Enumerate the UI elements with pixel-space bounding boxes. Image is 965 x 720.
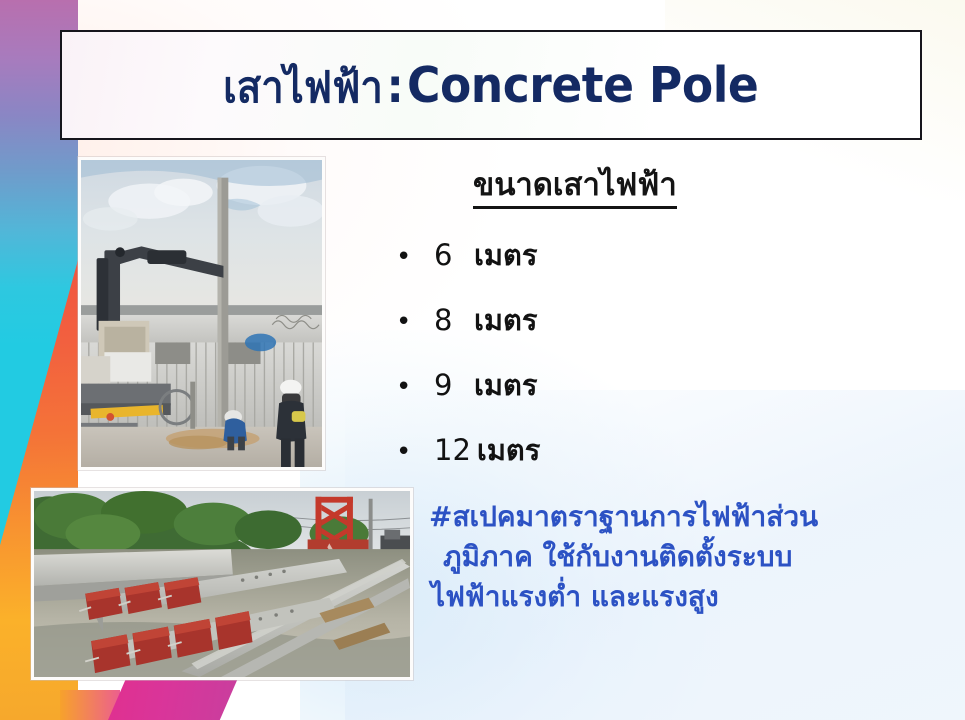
list-item-unit: เมตร bbox=[468, 232, 537, 278]
title-box: เสาไฟฟ้า:Concrete Pole bbox=[60, 30, 922, 140]
specification-note-line-2: ภูมิภาค ใช้กับงานติดตั้งระบบ bbox=[429, 537, 927, 577]
slide-title-thai: เสาไฟฟ้า bbox=[223, 63, 383, 113]
list-item-unit: เมตร bbox=[468, 297, 537, 343]
photo-pole-installation-graphic bbox=[81, 160, 322, 467]
specification-note-line-3: ไฟฟ้าแรงต่ำ และแรงสูง bbox=[429, 577, 927, 617]
bullet-icon: • bbox=[396, 244, 422, 270]
specification-note-line-1: #สเปคมาตราฐานการไฟฟ้าส่วน bbox=[429, 497, 927, 537]
decorative-magenta-accent bbox=[108, 678, 238, 720]
specification-note: #สเปคมาตราฐานการไฟฟ้าส่วน ภูมิภาค ใช้กับ… bbox=[429, 497, 927, 616]
pole-size-list: • 6 เมตร • 8 เมตร • 9 เมตร • 12 เมตร bbox=[396, 232, 916, 492]
slide-title-separator: : bbox=[383, 59, 407, 113]
list-item: • 6 เมตร bbox=[396, 232, 916, 297]
slide-title: เสาไฟฟ้า:Concrete Pole bbox=[223, 61, 758, 110]
photo-pole-installation bbox=[78, 157, 325, 470]
list-item-value: 6 bbox=[422, 238, 468, 272]
slide-canvas: เสาไฟฟ้า:Concrete Pole bbox=[0, 0, 965, 720]
list-item-unit: เมตร bbox=[471, 427, 540, 473]
list-item-unit: เมตร bbox=[468, 362, 537, 408]
list-item-value: 8 bbox=[422, 303, 468, 337]
slide-title-english: Concrete Pole bbox=[407, 57, 758, 114]
bullet-icon: • bbox=[396, 374, 422, 400]
list-item: • 9 เมตร bbox=[396, 362, 916, 427]
bullet-icon: • bbox=[396, 439, 422, 465]
bullet-icon: • bbox=[396, 309, 422, 335]
content-heading: ขนาดเสาไฟฟ้า bbox=[473, 168, 677, 209]
list-item-value: 12 bbox=[422, 433, 471, 467]
list-item: • 12 เมตร bbox=[396, 427, 916, 492]
list-item-value: 9 bbox=[422, 368, 468, 402]
photo-stacked-concrete-poles-graphic bbox=[34, 491, 410, 677]
list-item: • 8 เมตร bbox=[396, 297, 916, 362]
photo-stacked-concrete-poles bbox=[31, 488, 413, 680]
